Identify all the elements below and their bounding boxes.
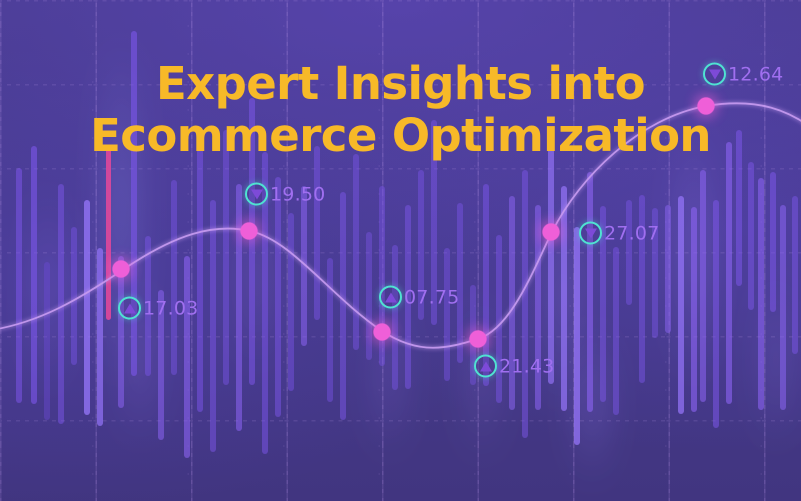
trend-up-icon bbox=[118, 297, 141, 320]
data-point[interactable] bbox=[374, 324, 391, 341]
trend-up-icon bbox=[474, 355, 497, 378]
data-point-marker[interactable]: 17.03 bbox=[118, 297, 198, 320]
triangle-up-icon bbox=[480, 361, 492, 371]
data-point-label: 17.03 bbox=[143, 297, 198, 319]
data-point-label: 27.07 bbox=[604, 222, 659, 244]
trend-up-icon bbox=[379, 286, 402, 309]
trend-down-icon bbox=[245, 183, 268, 206]
data-point-label: 07.75 bbox=[404, 286, 459, 308]
data-point-marker[interactable]: 21.43 bbox=[474, 355, 554, 378]
data-point-label: 19.50 bbox=[270, 183, 325, 205]
data-point[interactable] bbox=[241, 223, 258, 240]
triangle-up-icon bbox=[124, 303, 136, 313]
trend-down-icon bbox=[579, 222, 602, 245]
data-point[interactable] bbox=[543, 224, 560, 241]
data-point-label: 12.64 bbox=[728, 63, 783, 85]
data-point-marker[interactable]: 27.07 bbox=[579, 222, 659, 245]
triangle-down-icon bbox=[585, 228, 597, 238]
triangle-down-icon bbox=[709, 69, 721, 79]
data-point-marker[interactable]: 12.64 bbox=[703, 63, 783, 86]
data-point-marker[interactable]: 19.50 bbox=[245, 183, 325, 206]
data-point[interactable] bbox=[470, 331, 487, 348]
data-point[interactable] bbox=[698, 98, 715, 115]
triangle-down-icon bbox=[251, 189, 263, 199]
data-point-label: 21.43 bbox=[499, 355, 554, 377]
triangle-up-icon bbox=[385, 292, 397, 302]
data-point[interactable] bbox=[113, 261, 130, 278]
infographic-canvas: 17.0319.5007.7521.4327.0712.64 Expert In… bbox=[0, 0, 801, 501]
data-point-marker[interactable]: 07.75 bbox=[379, 286, 459, 309]
trend-down-icon bbox=[703, 63, 726, 86]
trend-line-chart bbox=[0, 0, 801, 501]
